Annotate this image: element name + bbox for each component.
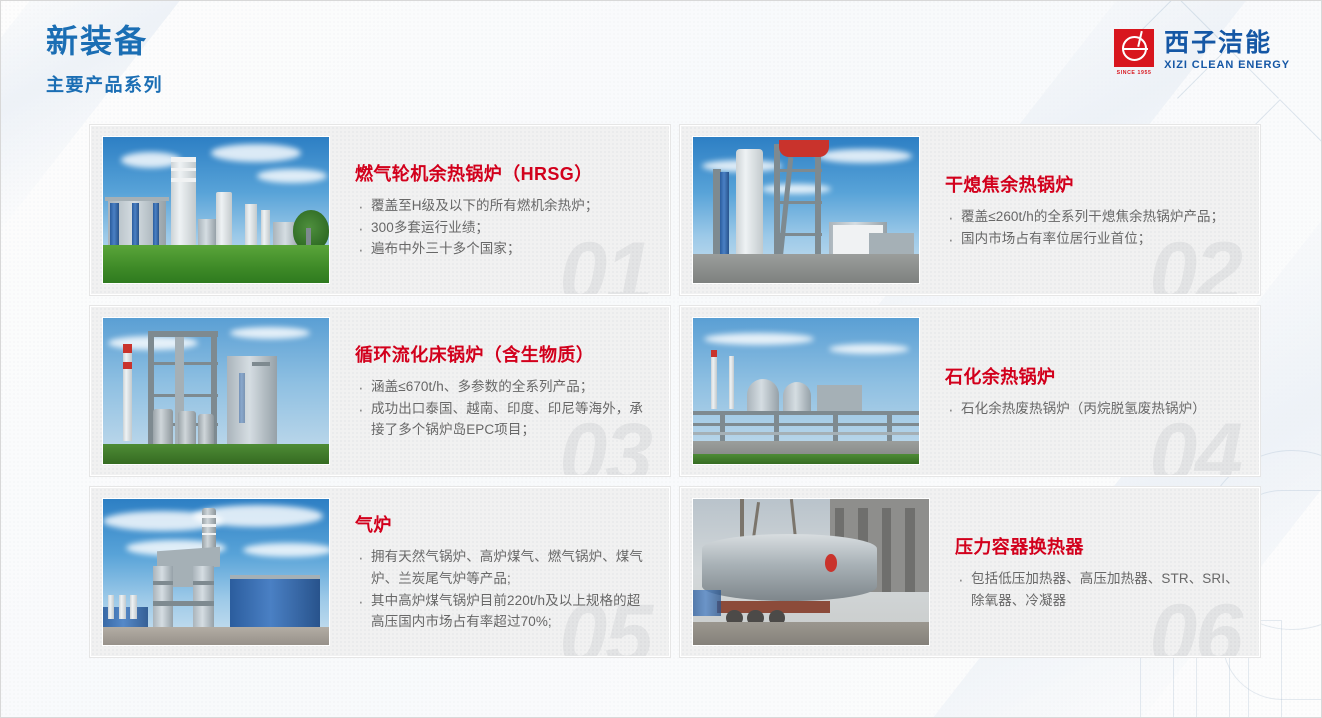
card-bullet: 成功出口泰国、越南、印度、印尼等海外，承接了多个锅炉岛EPC项目； [355, 398, 653, 442]
card-bullet-list: 石化余热废热锅炉（丙烷脱氢废热锅炉） [945, 398, 1243, 420]
logo-mark: SINCE 1955 [1113, 29, 1155, 76]
card-bullet: 涵盖≤670t/h、多参数的全系列产品； [355, 376, 653, 398]
gas-turbine-hrsg-plant-photo [102, 136, 330, 284]
card-text: 循环流化床锅炉（含生物质） 涵盖≤670t/h、多参数的全系列产品； 成功出口泰… [330, 341, 669, 442]
card-text: 石化余热锅炉 石化余热废热锅炉（丙烷脱氢废热锅炉） [920, 363, 1259, 420]
logo-name-cn: 西子洁能 [1164, 31, 1290, 56]
slide-root: 新装备 主要产品系列 SINCE 1955 西子洁能 XIZI CLEAN EN… [0, 0, 1322, 718]
card-text: 干熄焦余热锅炉 覆盖≤260t/h的全系列干熄焦余热锅炉产品； 国内市场占有率位… [920, 171, 1259, 250]
logo-name-en: XIZI CLEAN ENERGY [1164, 60, 1290, 71]
card-text: 压力容器换热器 包括低压加热器、高压加热器、STR、SRI、除氧器、冷凝器 [930, 533, 1259, 612]
card-text: 气炉 拥有天然气锅炉、高炉煤气、燃气锅炉、煤气炉、兰炭尾气炉等产品; 其中高炉煤… [330, 511, 669, 633]
card-bullet: 其中高炉煤气锅炉目前220t/h及以上规格的超高压国内市场占有率超过70%; [355, 590, 653, 634]
card-title: 燃气轮机余热锅炉（HRSG） [355, 160, 653, 186]
product-card[interactable]: 05 [90, 487, 670, 657]
card-bullet-list: 包括低压加热器、高压加热器、STR、SRI、除氧器、冷凝器 [955, 568, 1243, 612]
card-title: 干熄焦余热锅炉 [945, 171, 1243, 197]
coke-dry-quenching-boiler-photo [692, 136, 920, 284]
card-bullet: 300多套运行业绩； [355, 217, 653, 239]
card-bullet-list: 覆盖至H级及以下的所有燃机余热炉； 300多套运行业绩； 遍布中外三十多个国家； [355, 195, 653, 261]
card-bullet: 拥有天然气锅炉、高炉煤气、燃气锅炉、煤气炉、兰炭尾气炉等产品; [355, 546, 653, 590]
card-watermark-number: 04 [1149, 411, 1241, 476]
logo-since-text: SINCE 1955 [1117, 70, 1152, 76]
product-card[interactable]: 02 [680, 125, 1260, 295]
petrochemical-waste-heat-boiler-photo [692, 317, 920, 465]
page-subtitle: 主要产品系列 [46, 71, 163, 97]
product-card[interactable]: 04 [680, 306, 1260, 476]
product-card[interactable]: 06 [680, 487, 1260, 657]
card-text: 燃气轮机余热锅炉（HRSG） 覆盖至H级及以下的所有燃机余热炉； 300多套运行… [330, 160, 669, 261]
card-bullet: 遍布中外三十多个国家； [355, 238, 653, 260]
brand-logo: SINCE 1955 西子洁能 XIZI CLEAN ENERGY [1113, 29, 1290, 76]
product-card-grid: 01 [90, 125, 1260, 657]
card-title: 循环流化床锅炉（含生物质） [355, 341, 653, 367]
card-title: 石化余热锅炉 [945, 363, 1243, 389]
cfb-biomass-boiler-photo [102, 317, 330, 465]
card-title: 气炉 [355, 511, 653, 537]
card-bullet-list: 涵盖≤670t/h、多参数的全系列产品； 成功出口泰国、越南、印度、印尼等海外，… [355, 376, 653, 442]
logo-e-glyph [1122, 36, 1147, 61]
card-title: 压力容器换热器 [955, 533, 1243, 559]
pressure-vessel-heat-exchanger-photo [692, 498, 930, 646]
product-card[interactable]: 01 [90, 125, 670, 295]
card-bullet-list: 拥有天然气锅炉、高炉煤气、燃气锅炉、煤气炉、兰炭尾气炉等产品; 其中高炉煤气锅炉… [355, 546, 653, 633]
slide-header: 新装备 主要产品系列 [46, 24, 163, 97]
gas-fired-boiler-photo [102, 498, 330, 646]
product-card[interactable]: 03 [90, 306, 670, 476]
card-bullet: 覆盖≤260t/h的全系列干熄焦余热锅炉产品； [945, 206, 1243, 228]
card-bullet-list: 覆盖≤260t/h的全系列干熄焦余热锅炉产品； 国内市场占有率位居行业首位； [945, 206, 1243, 250]
page-title: 新装备 [46, 24, 163, 60]
card-bullet: 石化余热废热锅炉（丙烷脱氢废热锅炉） [945, 398, 1243, 420]
logo-wordmark: 西子洁能 XIZI CLEAN ENERGY [1164, 29, 1290, 71]
card-bullet: 包括低压加热器、高压加热器、STR、SRI、除氧器、冷凝器 [955, 568, 1243, 612]
logo-e-icon [1114, 29, 1154, 67]
card-bullet: 国内市场占有率位居行业首位； [945, 228, 1243, 250]
card-bullet: 覆盖至H级及以下的所有燃机余热炉； [355, 195, 653, 217]
